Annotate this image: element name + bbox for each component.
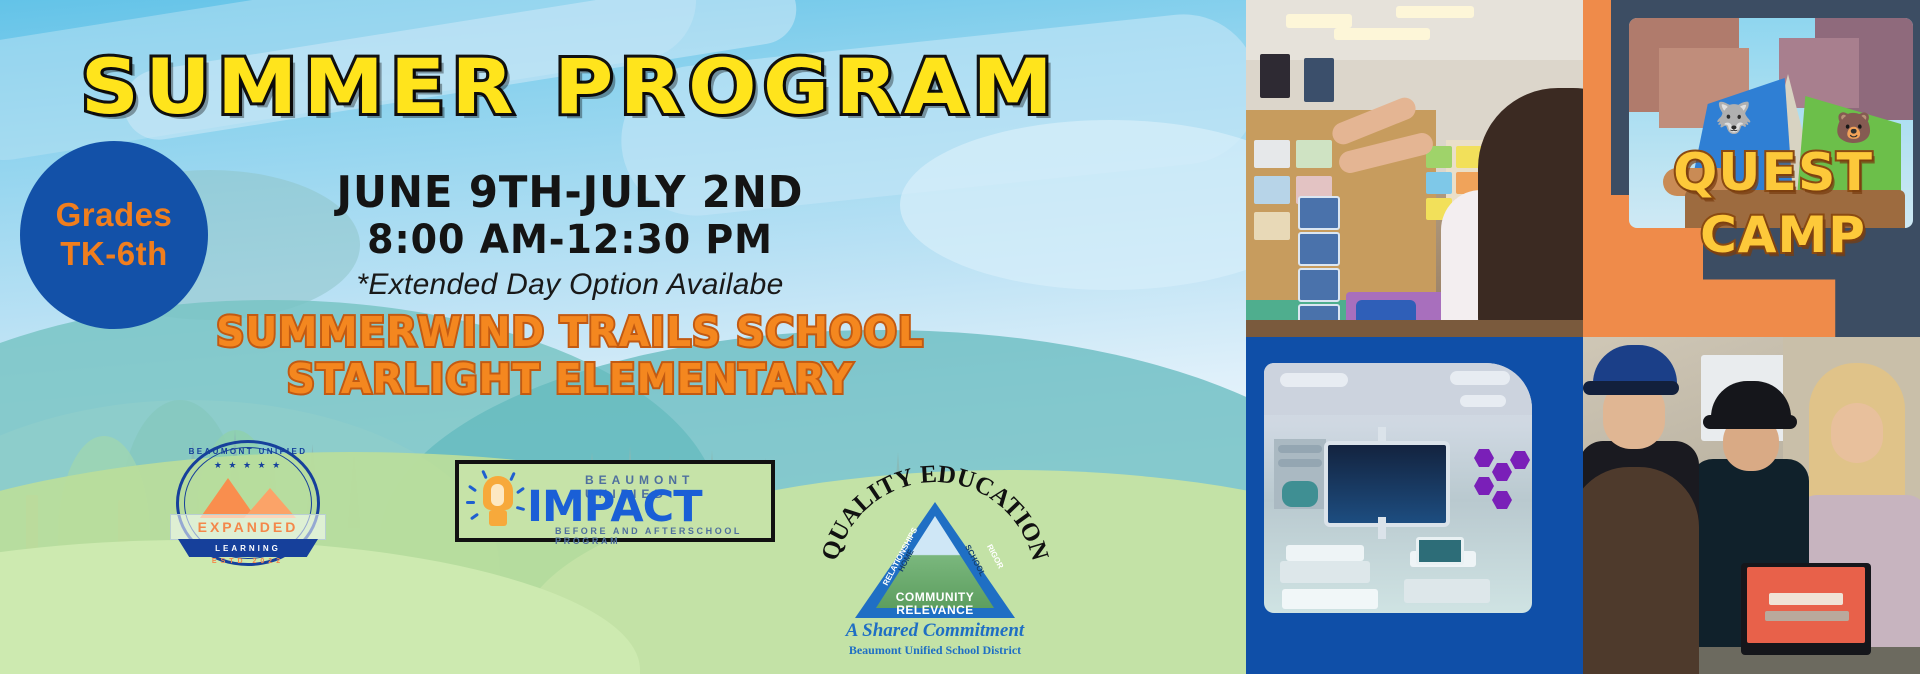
wolf-icon: 🐺 [1715,104,1752,134]
tech-lab-illustration [1246,337,1583,674]
impact-logo: BEAUMONT UNIFIED IMPACT BEFORE AND AFTER… [455,460,775,542]
photo-grid: 🐺 🐻 QUEST CAMP [1246,0,1920,674]
quest-camp-title: QUEST [1623,150,1920,198]
summer-program-banner: Grades TK-6th SUMMER PROGRAM JUNE 9TH-JU… [0,0,1920,674]
qe-community-text: COMMUNITY [855,590,1015,604]
expanded-logo-ribbon-text: LEARNING [178,539,318,557]
bear-icon: 🐻 [1835,114,1872,144]
extended-day-note: *Extended Day Option Availabe [0,268,1140,302]
expanded-logo-top-text: BEAUMONT UNIFIED [176,447,320,456]
quest-camp-subtitle: CAMP [1633,206,1920,264]
qe-tagline: A Shared Commitment [820,620,1050,642]
impact-logo-main-text: IMPACT [527,482,702,532]
program-times: 8:00 AM-12:30 PM [29,217,1112,263]
quest-camp-graphic: 🐺 🐻 QUEST CAMP [1583,0,1920,337]
impact-logo-bottom-text: BEFORE AND AFTERSCHOOL PROGRAM [555,526,771,546]
classroom-block-stacking-photo [1246,0,1583,337]
mountain-icon [198,474,298,518]
flyer-left-panel: Grades TK-6th SUMMER PROGRAM JUNE 9TH-JU… [0,0,1246,674]
students-laptop-photo [1583,337,1920,674]
lightbulb-icon [467,470,529,532]
expanded-logo-estd-text: ESTD 2022 [176,558,320,565]
qe-district-text: Beaumont Unified School District [820,643,1050,658]
qe-relevance-text: RELEVANCE [855,603,1015,617]
expanded-logo-main-text: EXPANDED [170,514,326,540]
quality-education-logo: QUALITY EDUCATION RELATIONSHIPS RIGOR HO… [820,440,1050,674]
school-name-line-2: STARLIGHT ELEMENTARY [23,355,1117,403]
star-row-icon: ★ ★ ★ ★ ★ [176,460,320,471]
impact-logo-text: BEAUMONT UNIFIED IMPACT BEFORE AND AFTER… [529,464,771,538]
page-title: SUMMER PROGRAM [0,42,1174,131]
school-name-line-1: SUMMERWIND TRAILS SCHOOL [23,308,1117,356]
expanded-learning-logo: BEAUMONT UNIFIED ★ ★ ★ ★ ★ EXPANDED LEAR… [162,438,334,570]
program-dates: JUNE 9TH-JULY 2ND [29,167,1112,218]
